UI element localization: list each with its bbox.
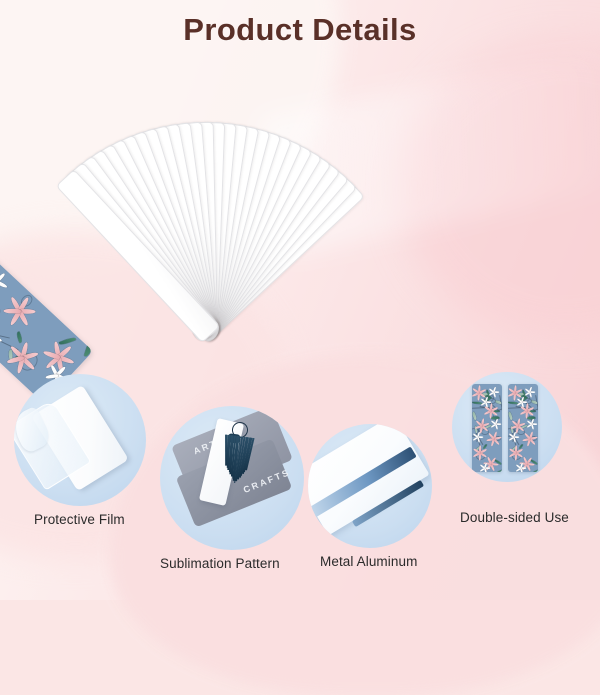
pattern-white-flower [486, 402, 487, 403]
pattern-lily-flower [516, 453, 517, 454]
pattern-lily-flower [481, 425, 482, 426]
pattern-lily-flower [517, 425, 518, 426]
feature-label-protective-film: Protective Film [34, 512, 125, 527]
floral-bookmark-back [508, 384, 538, 472]
sublimation-pattern-icon: ART CRAFTS [160, 406, 304, 550]
pattern-stem [535, 395, 538, 416]
pattern-white-flower [495, 424, 496, 425]
pattern-lily-flower [491, 410, 492, 411]
pattern-leaf [533, 467, 538, 472]
pattern-white-flower [477, 437, 478, 438]
pattern-leaf [16, 332, 23, 344]
pattern-lily-flower [22, 358, 23, 359]
pattern-lily-flower [526, 463, 527, 464]
feature-label-double-sided-use: Double-sided Use [460, 510, 569, 525]
pattern-white-flower [56, 375, 57, 376]
pattern-white-flower [520, 468, 521, 469]
pattern-outline-flower [0, 302, 3, 322]
pattern-lily-flower [490, 463, 491, 464]
pattern-lily-flower [527, 410, 528, 411]
pattern-leaf [497, 467, 502, 472]
pattern-white-flower [531, 424, 532, 425]
pattern-white-flower [513, 437, 514, 438]
floral-bookmark-front [472, 384, 502, 472]
pattern-white-flower [484, 468, 485, 469]
pattern-lily-flower [479, 393, 480, 394]
pattern-stem [499, 395, 502, 416]
pattern-lily-flower [19, 311, 20, 312]
pattern-lily-flower [529, 439, 530, 440]
pattern-white-flower [530, 391, 531, 392]
pattern-white-flower [494, 391, 495, 392]
pattern-lily-flower [480, 453, 481, 454]
pattern-leaf [59, 337, 76, 346]
feature-label-metal-aluminum: Metal Aluminum [320, 554, 417, 569]
metal-aluminum-icon [308, 424, 432, 548]
pattern-lily-flower [515, 393, 516, 394]
bookmark-fan [0, 0, 600, 420]
feature-label-sublimation-pattern: Sublimation Pattern [160, 556, 280, 571]
pattern-lily-flower [493, 439, 494, 440]
pattern-lily-flower [58, 357, 59, 358]
pattern-white-flower [522, 402, 523, 403]
double-sided-use-icon [452, 372, 562, 482]
pattern-stem [0, 331, 10, 338]
protective-film-icon [14, 374, 146, 506]
